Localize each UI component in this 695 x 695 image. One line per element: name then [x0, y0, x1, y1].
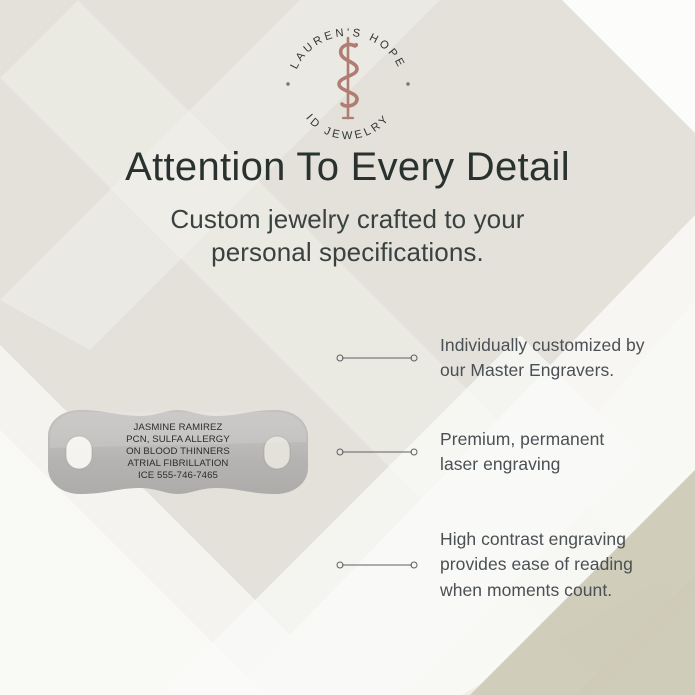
subtitle-line-2: personal specifications.: [0, 236, 695, 269]
medical-id-tag: JASMINE RAMIREZ PCN, SULFA ALLERGY ON BL…: [44, 404, 312, 500]
feature-item-individually-customized: Individually customized by our Master En…: [336, 330, 676, 386]
feature-line: High contrast engraving: [440, 527, 633, 552]
feature-text: Premium, permanent laser engraving: [440, 427, 604, 477]
connector-line-icon: [336, 558, 418, 572]
page-title: Attention To Every Detail: [0, 146, 695, 188]
feature-line: Premium, permanent: [440, 427, 604, 452]
subtitle-line-1: Custom jewelry crafted to your: [170, 204, 524, 234]
feature-line: when moments count.: [440, 578, 633, 603]
brand-logo: LAUREN'S HOPE ID JEWELRY: [277, 22, 419, 140]
logo-dot-left: [286, 82, 289, 85]
page-subtitle: Custom jewelry crafted to your personal …: [0, 203, 695, 270]
id-tag-shape: [44, 404, 312, 500]
feature-text: High contrast engraving provides ease of…: [440, 527, 633, 602]
logo-dot-right: [406, 82, 409, 85]
poster-canvas: LAUREN'S HOPE ID JEWELRY Attention To Ev…: [0, 0, 695, 695]
feature-text: Individually customized by our Master En…: [440, 333, 645, 383]
feature-item-laser-engraving: Premium, permanent laser engraving: [336, 424, 676, 480]
rod-of-asclepius-icon: [339, 38, 358, 118]
connector-line-icon: [336, 445, 418, 459]
feature-line: our Master Engravers.: [440, 358, 645, 383]
feature-line: Individually customized by: [440, 333, 645, 358]
brand-logo-svg: LAUREN'S HOPE ID JEWELRY: [277, 22, 419, 140]
connector-line-icon: [336, 351, 418, 365]
feature-item-high-contrast: High contrast engraving provides ease of…: [336, 524, 676, 606]
feature-line: provides ease of reading: [440, 552, 633, 577]
feature-line: laser engraving: [440, 452, 604, 477]
